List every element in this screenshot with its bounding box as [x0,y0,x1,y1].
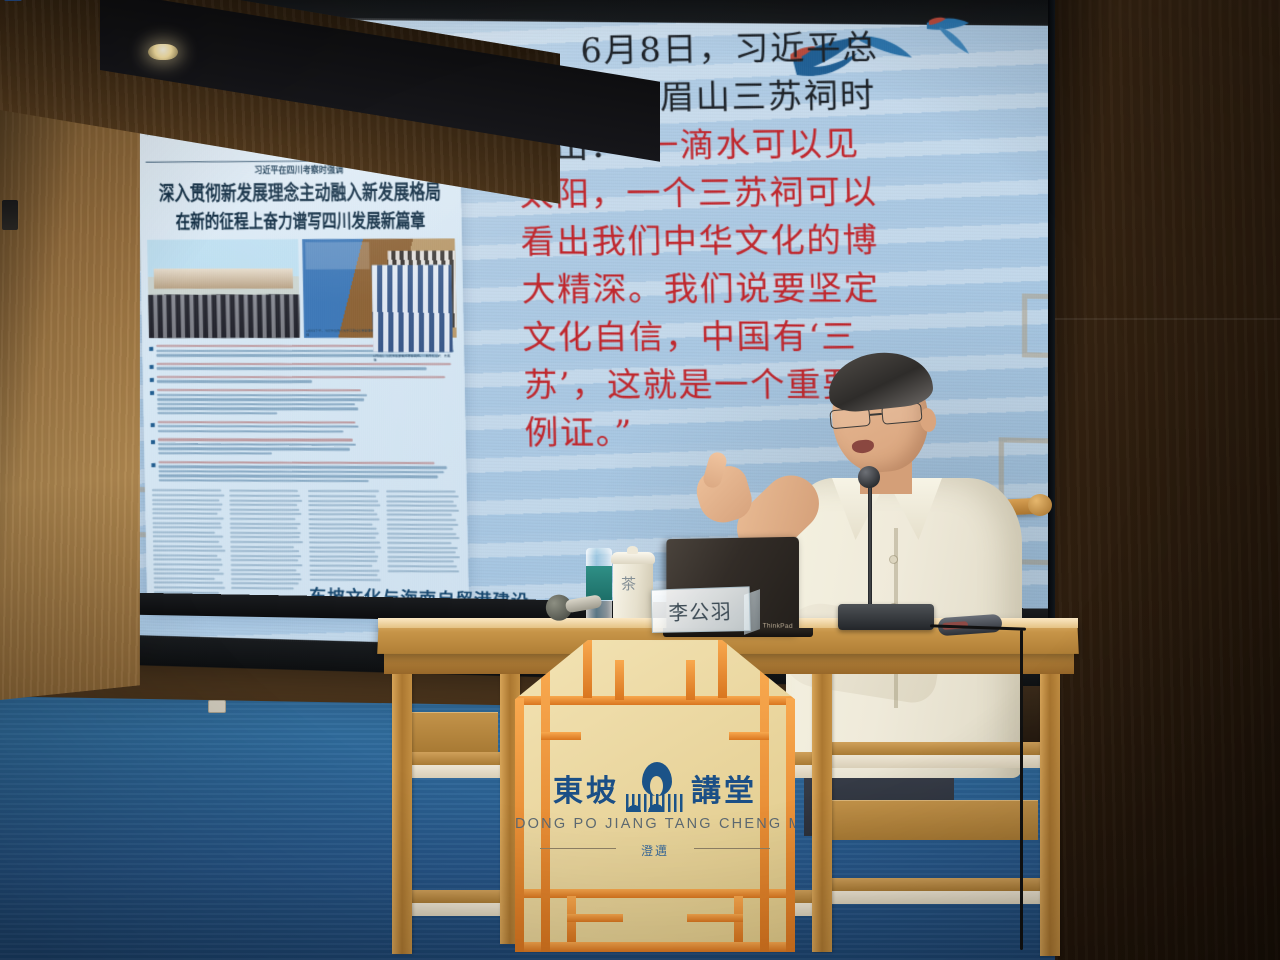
bullet-text [157,376,458,385]
ceiling-spotlight [148,44,178,60]
tea-cup-lid-knob [627,546,638,554]
banner-subtitle: 澄邁 [540,842,770,859]
chair-armrest-knob [1028,494,1052,516]
desk-leg [1040,664,1060,956]
desk-microphone-head [858,466,880,488]
banner-pinyin: DONG PO JIANG TANG CHENG MAI [515,816,795,832]
list-item [150,363,458,372]
desk-stretcher-3 [820,742,1048,755]
tea-cup: 茶 [613,560,653,624]
list-item [150,389,458,417]
bullet-text [158,461,459,485]
banner-title-right: 講堂 [691,766,757,810]
quote-line-6: 大精深。我们说要坚定 [521,271,991,307]
list-item [150,376,458,385]
wall-fixture [2,200,18,230]
quote-line-3-red: “一滴水可以见 [625,124,860,166]
body-column [230,490,305,601]
desk-panel-left [400,712,498,752]
right-wood-wall [1055,0,1280,960]
newspaper-headline-2: 在新的征程上奋力谱写四川发展新篇章 [147,206,455,235]
desk-microphone-base[interactable] [838,604,934,630]
list-item [151,438,459,457]
desk-microphone-stem [868,476,872,608]
podium-banner: 東坡 講堂 DONG PO JIANG TANG CHENG MAI 澄邁 [515,640,795,952]
lecture-hall-photo: 人民日报 RENMIN RIBAO 中共中央委员会机关报 一九四八年六月十五日创… [0,0,1280,960]
desk-leg [392,664,412,954]
list-item [151,461,459,485]
bullet-square-icon [151,423,155,427]
desk-leg [812,664,832,952]
bullet-text [157,363,458,372]
banner-moon-wave-icon [626,762,684,814]
bullet-text [157,389,458,417]
body-column [152,490,227,601]
banner-title-left: 東坡 [553,766,619,810]
bullet-square-icon [150,391,154,395]
bullet-text [158,421,459,436]
quote-line-5: 看出我们中华文化的博 [520,222,990,258]
banner-logo: 東坡 講堂 DONG PO JIANG TANG CHENG MAI 澄邁 [515,762,795,854]
desk-stretcher-4 [820,878,1048,891]
bottle-cap [4,0,22,1]
bullet-square-icon [150,365,154,369]
wall-outlet [208,700,226,713]
banner-divider: 澄邁 [540,842,770,854]
quote-line-4: 太阳，一个三苏祠可以 [519,174,989,211]
screen-right-edge [1048,0,1055,680]
quote-line-7: 文化自信，中国有‘三 [522,319,992,354]
newspaper-bullet-list [149,345,459,485]
bullet-square-icon [151,440,155,444]
bullet-square-icon [150,378,154,382]
banner-logo-row: 東坡 講堂 [515,762,795,814]
nameplate: 李公羽 [651,586,751,633]
eyeglass-bridge [870,413,882,416]
newspaper-side-photo [372,265,453,352]
bullet-square-icon [149,347,153,351]
nameplate-text: 李公羽 [668,595,732,626]
desk-panel-right [822,800,1038,840]
newspaper-headline-1: 深入贯彻新发展理念主动融入新发展格局 [146,176,454,207]
bullet-square-icon [151,463,155,467]
desk-cable-vertical [1020,630,1023,950]
handheld-mic-body [565,594,603,613]
shirt-button [890,556,897,563]
bullet-text [158,438,459,457]
quote-line-1: 6月8日，习近平总 [580,29,986,67]
photo-caption-left: 6月8日，习近平在眉山市考察三苏祠。 新华社记者 李学仁 摄 [151,333,298,337]
list-item [151,421,459,436]
tea-cup-calligraphy: 茶 [621,576,645,616]
newspaper-photo-left: 6月8日，习近平在眉山市考察三苏祠。 新华社记者 李学仁 摄 [147,239,300,338]
side-photo-caption: 6月9日，习近平在宜宾市考察调研。 新华社记者 燕雁 摄 [373,354,453,362]
